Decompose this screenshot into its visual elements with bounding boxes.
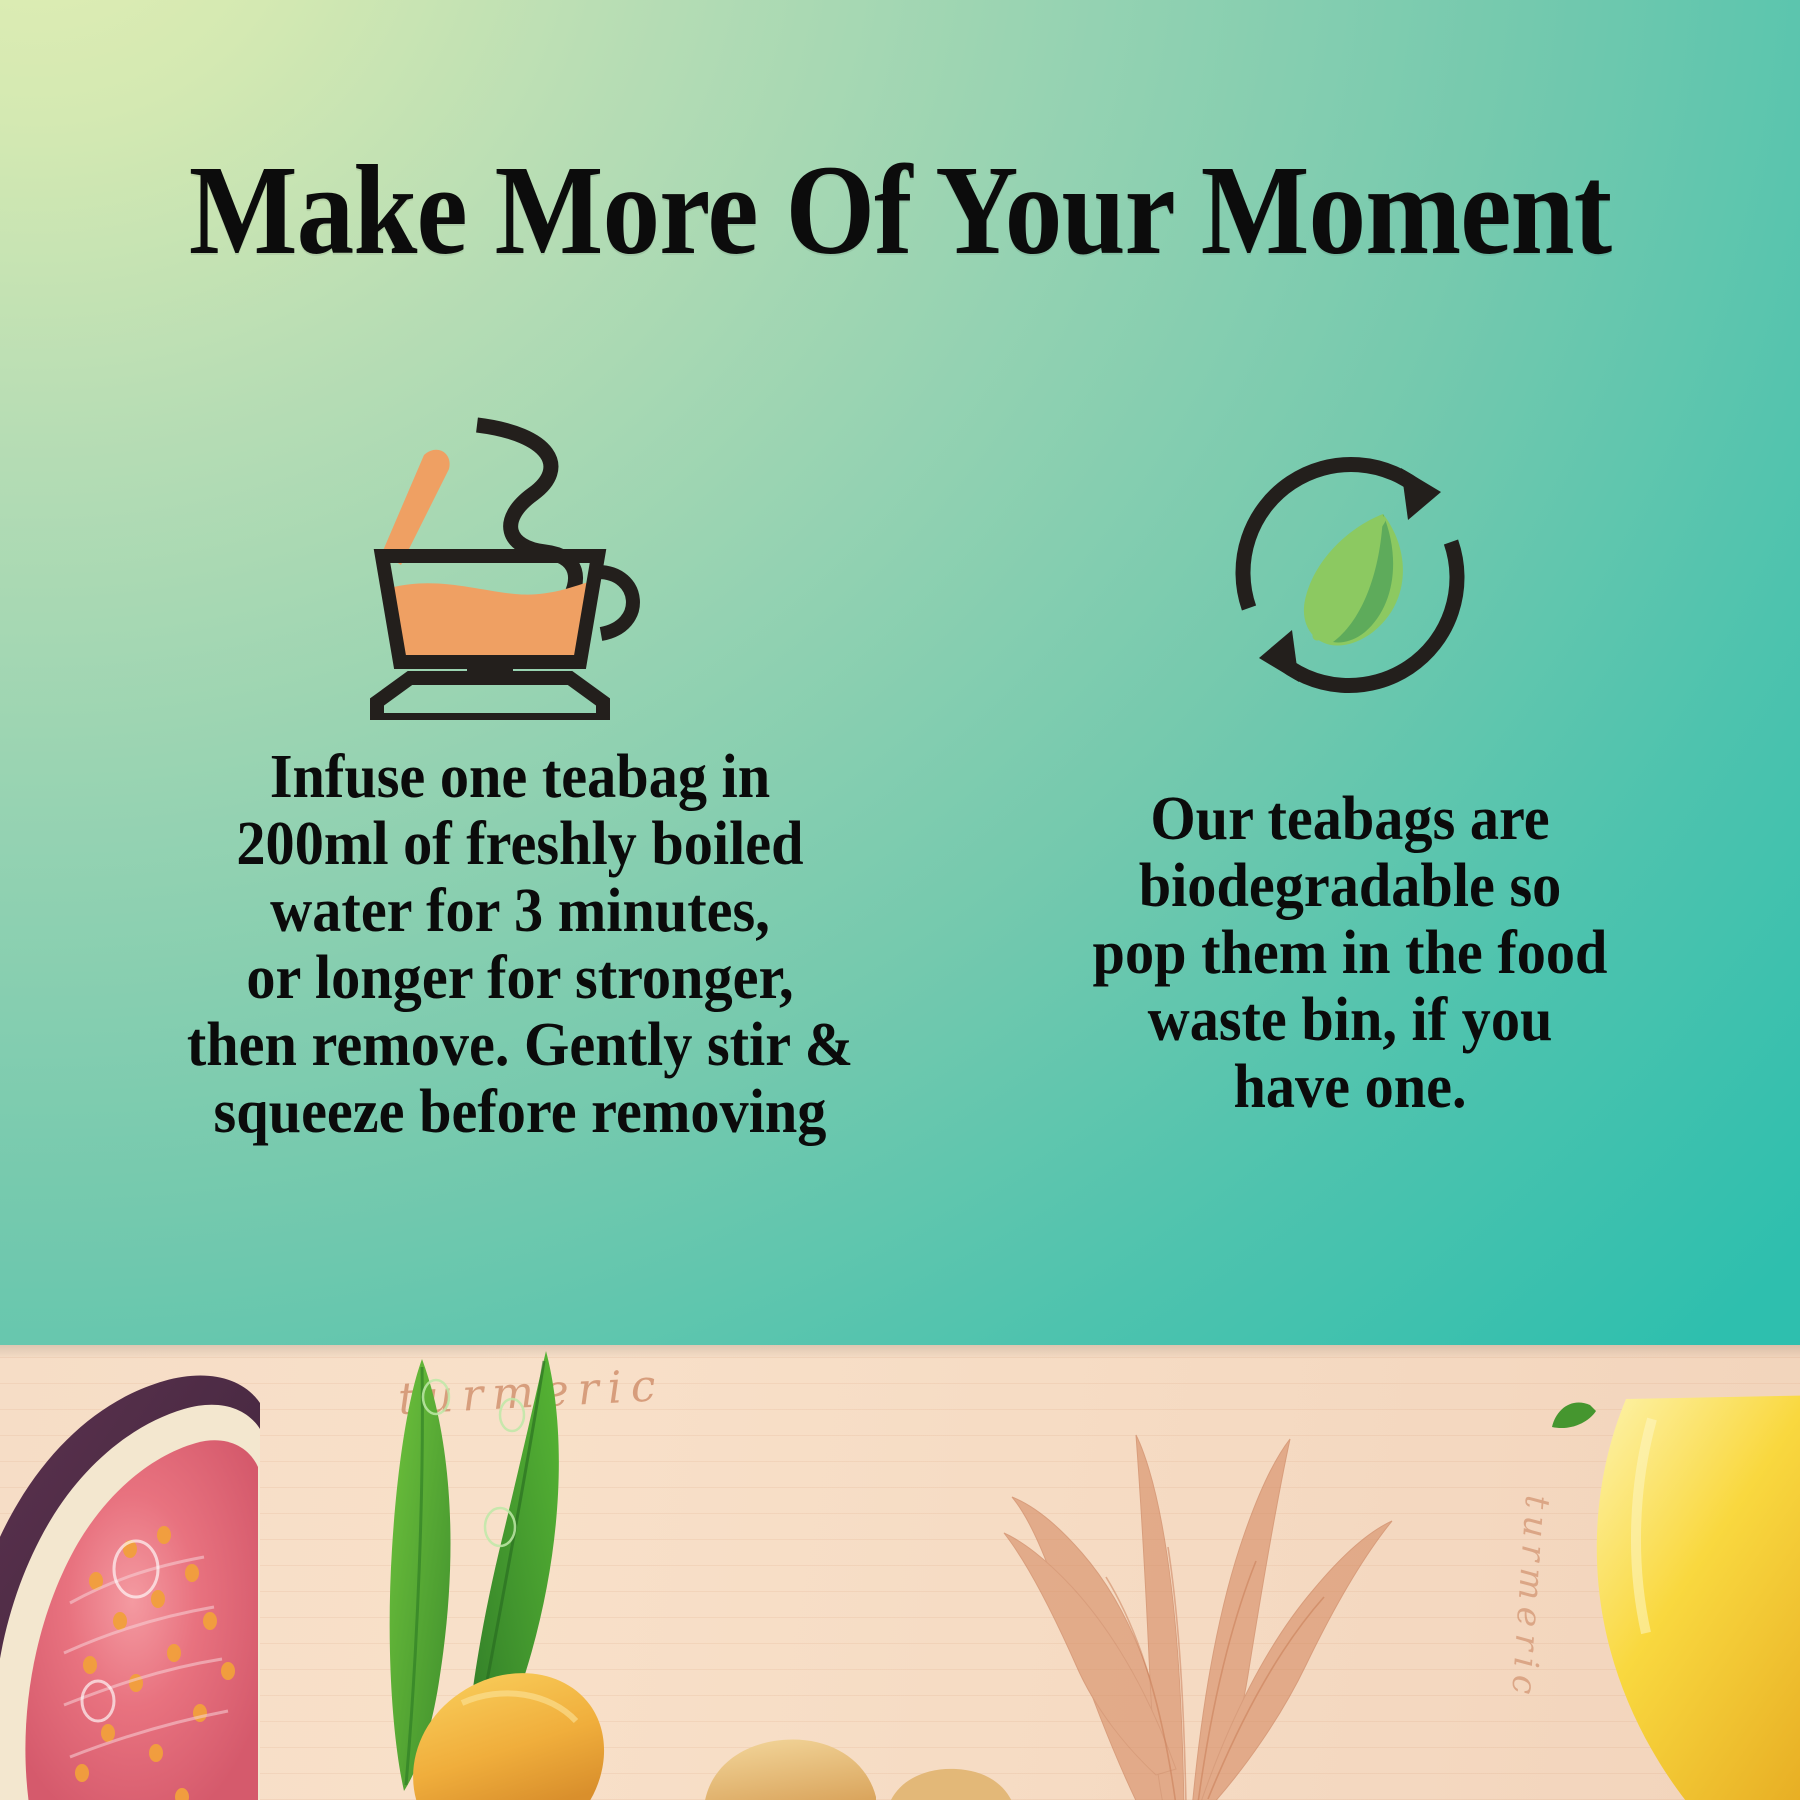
disposal-caption: Our teabags are biodegradable so pop the… bbox=[1012, 786, 1689, 1121]
column-disposal-instructions: Our teabags are biodegradable so pop the… bbox=[970, 390, 1730, 1121]
caption-line: Infuse one teabag in bbox=[106, 744, 933, 811]
column-brewing-instructions: Infuse one teabag in 200ml of freshly bo… bbox=[70, 390, 970, 1146]
caption-line: pop them in the food bbox=[1021, 920, 1679, 987]
instructions-columns: Infuse one teabag in 200ml of freshly bo… bbox=[0, 390, 1800, 1146]
teacup-with-steam-icon bbox=[355, 390, 685, 720]
ginger-piece-image bbox=[880, 1755, 1020, 1800]
recycle-leaf-icon bbox=[1200, 410, 1500, 740]
ginger-root-image bbox=[700, 1713, 880, 1800]
caption-line: Our teabags are bbox=[1021, 786, 1679, 853]
caption-line: have one. bbox=[1021, 1054, 1679, 1121]
lemon-image bbox=[1530, 1375, 1800, 1800]
caption-line: water for 3 minutes, bbox=[106, 878, 933, 945]
botanical-sketch-icon bbox=[900, 1345, 1460, 1800]
caption-line: then remove. Gently stir & bbox=[106, 1012, 933, 1079]
caption-line: or longer for stronger, bbox=[106, 945, 933, 1012]
poster-canvas: Make More Of Your Moment bbox=[0, 0, 1800, 1800]
turmeric-root-image bbox=[392, 1645, 622, 1800]
page-title: Make More Of Your Moment bbox=[90, 146, 1710, 274]
ingredient-photo-band: turmeric turmeric bbox=[0, 1345, 1800, 1800]
caption-line: biodegradable so bbox=[1021, 853, 1679, 920]
caption-line: 200ml of freshly boiled bbox=[106, 811, 933, 878]
caption-line: squeeze before removing bbox=[106, 1079, 933, 1146]
caption-line: waste bin, if you bbox=[1021, 987, 1679, 1054]
brewing-caption: Infuse one teabag in 200ml of freshly bo… bbox=[97, 744, 943, 1146]
